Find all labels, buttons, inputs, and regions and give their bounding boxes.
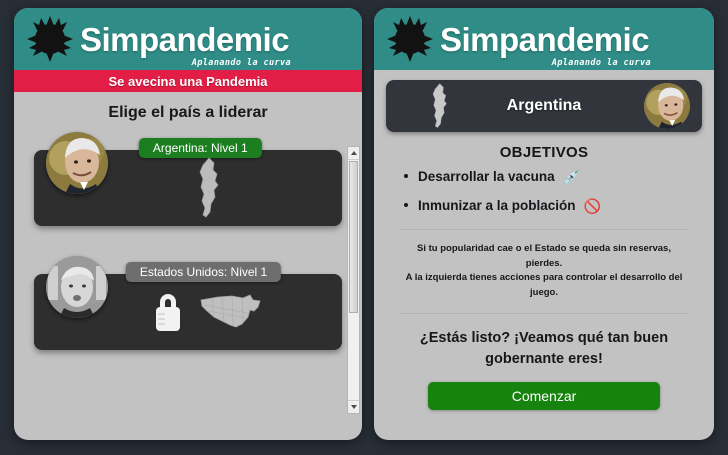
rules-text: Si tu popularidad cae o el Estado se que… <box>386 232 702 311</box>
objective-item: Inmunizar a la población 🚫 <box>404 198 702 227</box>
country-select-panel: Simpandemic Aplanando la curva Se avecin… <box>14 8 362 440</box>
syringe-icon: 💉 <box>563 170 580 184</box>
app-title: Simpandemic <box>440 23 649 56</box>
start-button[interactable]: Comenzar <box>428 382 660 410</box>
selected-country-banner: Argentina <box>386 80 702 132</box>
objective-label: Inmunizar a la población <box>418 198 576 213</box>
scrollbar-thumb[interactable] <box>349 161 358 313</box>
no-virus-icon: 🚫 <box>584 199 601 213</box>
country-card-estados-unidos[interactable]: Estados Unidos: Nivel 1 <box>34 274 342 350</box>
country-card-argentina[interactable]: Argentina: Nivel 1 <box>34 150 342 226</box>
scroll-up-arrow-icon[interactable] <box>348 147 359 160</box>
objective-item: Desarrollar la vacuna 💉 <box>404 169 702 198</box>
usa-map-icon <box>198 291 264 333</box>
app-title: Simpandemic <box>80 23 289 56</box>
virus-sun-icon <box>384 13 436 65</box>
app-tagline: Aplanando la curva <box>552 58 651 68</box>
objectives-heading: OBJETIVOS <box>386 132 702 169</box>
briefing-panel: Simpandemic Aplanando la curva Argentina <box>374 8 714 440</box>
rules-line-1: Si tu popularidad cae o el Estado se que… <box>400 242 688 271</box>
alberto-fernandez-avatar <box>644 83 690 129</box>
game-screen: Simpandemic Aplanando la curva Se avecin… <box>0 0 728 455</box>
pandemic-alert-bar: Se avecina una Pandemia <box>14 70 362 92</box>
country-card-estados-unidos-content <box>34 274 342 350</box>
country-list: Argentina: Nivel 1 <box>14 132 362 424</box>
scroll-down-arrow-icon[interactable] <box>348 400 359 413</box>
app-tagline: Aplanando la curva <box>192 58 291 68</box>
app-header-right: Simpandemic Aplanando la curva <box>374 8 714 70</box>
argentina-map-icon <box>191 157 225 219</box>
briefing-body: Argentina <box>374 70 714 410</box>
argentina-map-icon <box>426 83 452 129</box>
padlock-icon <box>152 291 184 333</box>
divider-bottom <box>400 313 688 314</box>
ready-prompt: ¿Estás listo? ¡Veamos qué tan buen gober… <box>386 316 702 380</box>
choose-country-heading: Elige el país a liderar <box>14 92 362 132</box>
virus-sun-icon <box>24 13 76 65</box>
objective-label: Desarrollar la vacuna <box>418 169 555 184</box>
objectives-list: Desarrollar la vacuna 💉 Inmunizar a la p… <box>386 169 702 227</box>
app-header-left: Simpandemic Aplanando la curva <box>14 8 362 70</box>
rules-line-2: A la izquierda tienes acciones para cont… <box>400 271 688 300</box>
divider-top <box>400 229 688 230</box>
pandemic-alert-text: Se avecina una Pandemia <box>109 74 268 89</box>
country-list-scrollbar[interactable] <box>347 146 360 414</box>
country-card-argentina-content <box>34 150 342 226</box>
